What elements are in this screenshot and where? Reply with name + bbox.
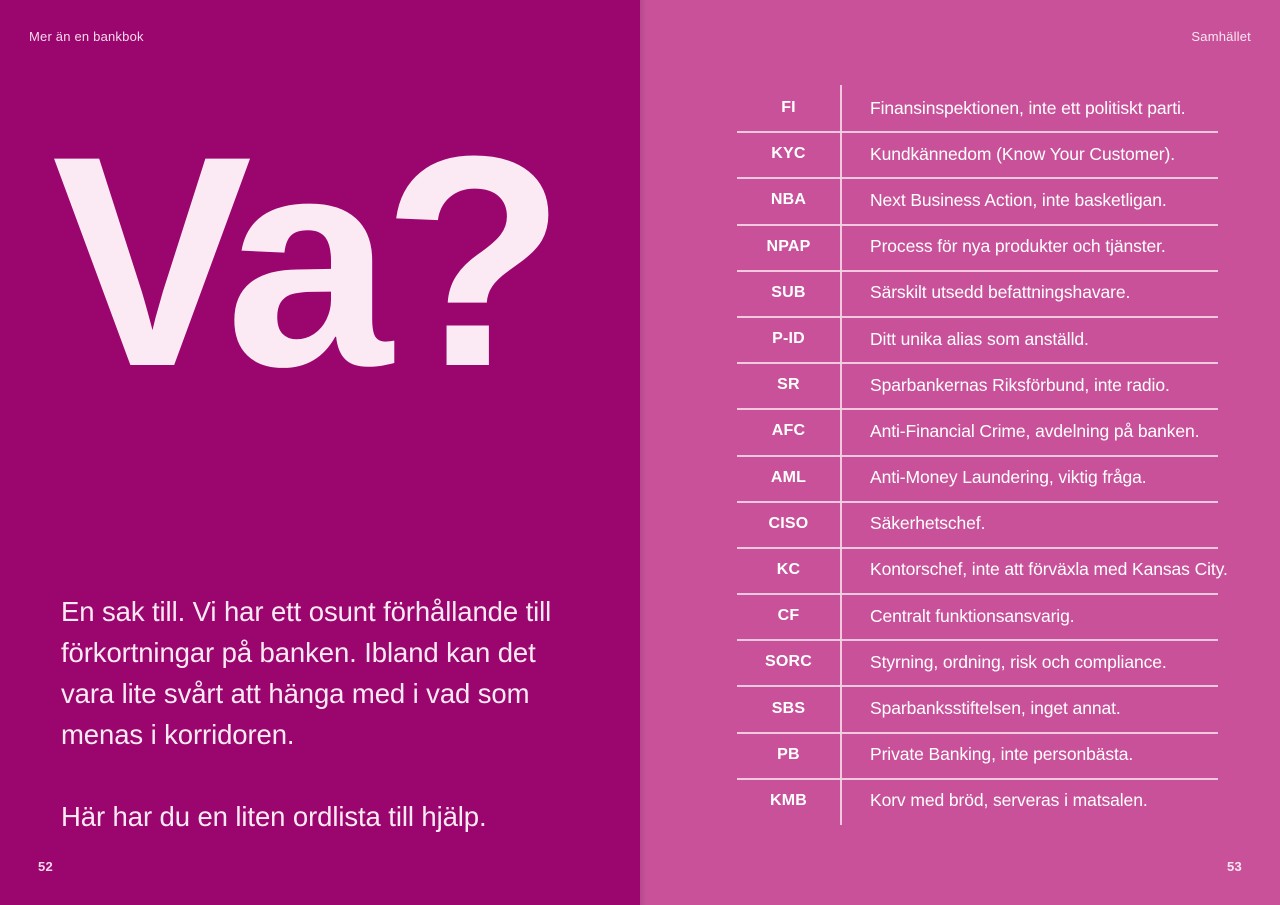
glossary-definition: Centralt funktionsansvarig. bbox=[840, 606, 1218, 627]
glossary-row: SBSSparbanksstiftelsen, inget annat. bbox=[737, 685, 1218, 731]
glossary-row: P-IDDitt unika alias som anställd. bbox=[737, 316, 1218, 362]
glossary-definition: Next Business Action, inte basketligan. bbox=[840, 190, 1218, 211]
glossary-definition: Sparbankernas Riksförbund, inte radio. bbox=[840, 375, 1218, 396]
glossary-term: KYC bbox=[737, 145, 840, 163]
glossary-definition: Korv med bröd, serveras i matsalen. bbox=[840, 790, 1218, 811]
glossary-row: FIFinansinspektionen, inte ett politiskt… bbox=[737, 85, 1218, 131]
glossary-row: NBANext Business Action, inte basketliga… bbox=[737, 177, 1218, 223]
glossary-row: AMLAnti-Money Laundering, viktig fråga. bbox=[737, 455, 1218, 501]
left-page-body: En sak till. Vi har ett osunt förhålland… bbox=[61, 591, 561, 837]
glossary-row: PBPrivate Banking, inte personbästa. bbox=[737, 732, 1218, 778]
folio-right: 53 bbox=[1227, 859, 1242, 874]
glossary-term: SORC bbox=[737, 653, 840, 671]
right-page: Samhället FIFinansinspektionen, inte ett… bbox=[640, 0, 1280, 905]
glossary-row: KYCKundkännedom (Know Your Customer). bbox=[737, 131, 1218, 177]
body-paragraph-2: Här har du en liten ordlista till hjälp. bbox=[61, 796, 561, 837]
glossary-row: SUBSärskilt utsedd befattningshavare. bbox=[737, 270, 1218, 316]
glossary-definition: Process för nya produkter och tjänster. bbox=[840, 236, 1218, 257]
glossary-row: NPAPProcess för nya produkter och tjänst… bbox=[737, 224, 1218, 270]
glossary-term: SR bbox=[737, 376, 840, 394]
glossary-definition: Anti-Money Laundering, viktig fråga. bbox=[840, 467, 1218, 488]
glossary-term: KC bbox=[737, 561, 840, 579]
glossary-rows: FIFinansinspektionen, inte ett politiskt… bbox=[737, 85, 1218, 824]
glossary-definition: Sparbanksstiftelsen, inget annat. bbox=[840, 698, 1218, 719]
glossary-definition: Kontorschef, inte att förväxla med Kansa… bbox=[840, 559, 1228, 580]
glossary-term: FI bbox=[737, 99, 840, 117]
glossary-row: AFCAnti-Financial Crime, avdelning på ba… bbox=[737, 408, 1218, 454]
glossary-definition: Private Banking, inte personbästa. bbox=[840, 744, 1218, 765]
page-title: Va? bbox=[52, 132, 556, 390]
glossary-definition: Särskilt utsedd befattningshavare. bbox=[840, 282, 1218, 303]
glossary-definition: Styrning, ordning, risk och compliance. bbox=[840, 652, 1218, 673]
glossary-definition: Kundkännedom (Know Your Customer). bbox=[840, 144, 1218, 165]
glossary-term: KMB bbox=[737, 792, 840, 810]
glossary-definition: Anti-Financial Crime, avdelning på banke… bbox=[840, 421, 1218, 442]
glossary-term: CISO bbox=[737, 515, 840, 533]
glossary-row: KMBKorv med bröd, serveras i matsalen. bbox=[737, 778, 1218, 824]
glossary-term: AFC bbox=[737, 422, 840, 440]
glossary-row: SRSparbankernas Riksförbund, inte radio. bbox=[737, 362, 1218, 408]
glossary-definition: Finansinspektionen, inte ett politiskt p… bbox=[840, 98, 1218, 119]
glossary-term: NBA bbox=[737, 191, 840, 209]
glossary-term: NPAP bbox=[737, 238, 840, 256]
glossary-term: PB bbox=[737, 746, 840, 764]
folio-left: 52 bbox=[38, 859, 53, 874]
body-paragraph-1: En sak till. Vi har ett osunt förhålland… bbox=[61, 591, 561, 755]
book-spread: Mer än en bankbok Va? En sak till. Vi ha… bbox=[0, 0, 1280, 905]
running-head-left: Mer än en bankbok bbox=[29, 29, 144, 44]
glossary-row: KCKontorschef, inte att förväxla med Kan… bbox=[737, 547, 1218, 593]
glossary-term: SUB bbox=[737, 284, 840, 302]
running-head-right: Samhället bbox=[1191, 29, 1251, 44]
glossary-row: CFCentralt funktionsansvarig. bbox=[737, 593, 1218, 639]
glossary-definition: Ditt unika alias som anställd. bbox=[840, 329, 1218, 350]
glossary-table: FIFinansinspektionen, inte ett politiskt… bbox=[737, 85, 1218, 825]
left-page: Mer än en bankbok Va? En sak till. Vi ha… bbox=[0, 0, 640, 905]
glossary-term: P-ID bbox=[737, 330, 840, 348]
glossary-term: SBS bbox=[737, 700, 840, 718]
glossary-row: SORCStyrning, ordning, risk och complian… bbox=[737, 639, 1218, 685]
glossary-term: AML bbox=[737, 469, 840, 487]
glossary-term: CF bbox=[737, 607, 840, 625]
glossary-row: CISOSäkerhetschef. bbox=[737, 501, 1218, 547]
glossary-definition: Säkerhetschef. bbox=[840, 513, 1218, 534]
